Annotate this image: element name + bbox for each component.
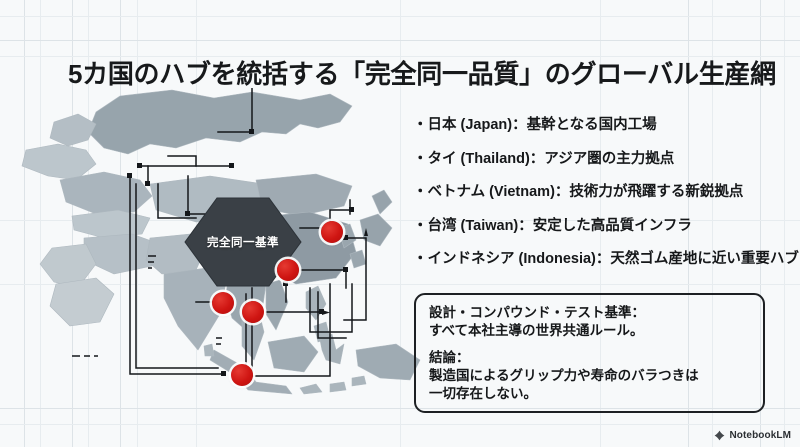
map-node-taiwan[interactable]: [277, 259, 299, 281]
watermark-label: NotebookLM: [729, 430, 791, 441]
hub-bullet-list: ・日本 (Japan)：基幹となる国内工場 ・タイ (Thailand)：アジア…: [413, 118, 793, 286]
map-node-vietnam[interactable]: [242, 301, 264, 323]
notebooklm-logo-icon: [714, 430, 725, 441]
summary-callout-box: 設計・コンパウンド・テスト基準： すべて本社主導の世界共通ルール。 結論： 製造…: [414, 293, 765, 413]
list-item: ・タイ (Thailand)：アジア圏の主力拠点: [413, 152, 793, 167]
map-node-indonesia[interactable]: [231, 364, 253, 386]
slide-canvas: 完全同一基準 5カ国のハブを統括する「完全同一品質」のグローバル生産網 ・日本 …: [0, 0, 800, 447]
callout-line-3: 結論：: [429, 349, 751, 367]
notebooklm-watermark: NotebookLM: [714, 430, 791, 441]
page-title: 5カ国のハブを統括する「完全同一品質」のグローバル生産網: [68, 54, 776, 91]
callout-line-4: 製造国によるグリップ力や寿命のバラつきは: [429, 367, 751, 385]
map-node-thailand[interactable]: [212, 292, 234, 314]
list-item: ・インドネシア (Indonesia)：天然ゴム産地に近い重要ハブ: [413, 252, 793, 267]
callout-line-2: すべて本社主導の世界共通ルール。: [429, 322, 751, 340]
callout-line-5: 一切存在しない。: [429, 385, 751, 403]
list-item: ・日本 (Japan)：基幹となる国内工場: [413, 118, 793, 133]
map-node-japan[interactable]: [321, 221, 343, 243]
list-item: ・台湾 (Taiwan)：安定した高品質インフラ: [413, 219, 793, 234]
callout-line-1: 設計・コンパウンド・テスト基準：: [429, 304, 751, 322]
list-item: ・ベトナム (Vietnam)：技術力が飛躍する新鋭拠点: [413, 185, 793, 200]
